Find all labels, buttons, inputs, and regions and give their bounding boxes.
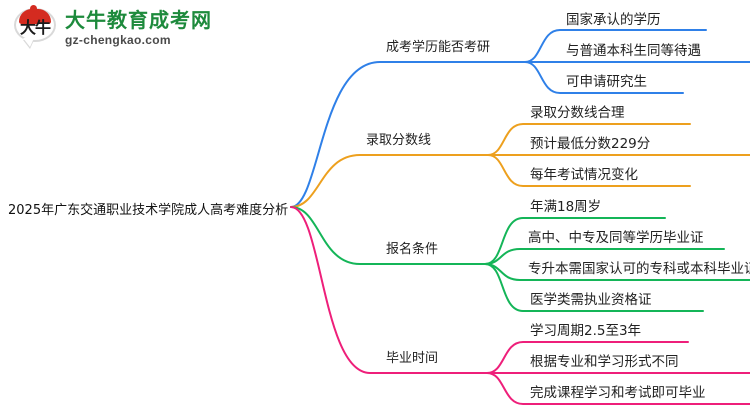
root-node[interactable]: 2025年广东交通职业技术学院成人高考难度分析 <box>8 199 288 218</box>
leaf-node-3-4[interactable]: 医学类需执业资格证 <box>530 288 652 308</box>
branch-node-4[interactable]: 毕业时间 <box>386 347 438 366</box>
leaf-node-3-2[interactable]: 高中、中专及同等学历毕业证 <box>528 226 704 246</box>
leaf-node-3-3[interactable]: 专升本需国家认可的专科或本科毕业证 <box>528 257 750 277</box>
branch-node-3[interactable]: 报名条件 <box>386 238 438 257</box>
leaf-node-2-2[interactable]: 预计最低分数229分 <box>530 132 650 152</box>
branch-node-2[interactable]: 录取分数线 <box>366 129 431 148</box>
leaf-node-2-1[interactable]: 录取分数线合理 <box>530 101 625 121</box>
leaf-node-4-2[interactable]: 根据专业和学习形式不同 <box>530 350 679 370</box>
leaf-node-2-3[interactable]: 每年考试情况变化 <box>530 163 638 183</box>
link-root-branch-2 <box>291 155 488 207</box>
leaf-node-4-1[interactable]: 学习周期2.5至3年 <box>530 319 641 339</box>
leaf-node-1-1[interactable]: 国家承认的学历 <box>566 8 661 28</box>
leaf-node-3-1[interactable]: 年满18周岁 <box>530 195 601 215</box>
mindmap-canvas: 大牛 大牛教育成考网 gz-chengkao.com 2025年广东交通职业技术… <box>0 0 750 410</box>
leaf-node-1-2[interactable]: 与普通本科生同等待遇 <box>566 39 701 59</box>
leaf-node-4-3[interactable]: 完成课程学习和考试即可毕业 <box>530 381 706 401</box>
leaf-node-1-3[interactable]: 可申请研究生 <box>566 70 647 90</box>
branch-node-1[interactable]: 成考学历能否考研 <box>386 36 490 55</box>
